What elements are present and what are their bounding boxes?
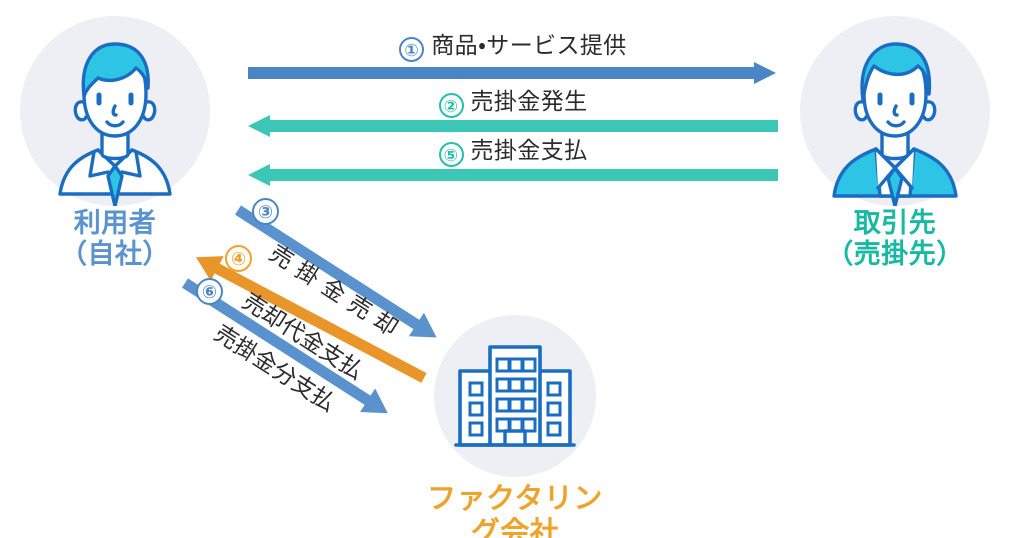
flow-6-arrow xyxy=(0,0,1024,538)
flow-6-receivable-share-payment: ⑥ 売掛金分支払 xyxy=(0,0,1024,538)
factoring-flow-diagram: 利用者 （自社） xyxy=(0,0,1024,538)
flow-6-number: ⑥ xyxy=(196,278,223,305)
